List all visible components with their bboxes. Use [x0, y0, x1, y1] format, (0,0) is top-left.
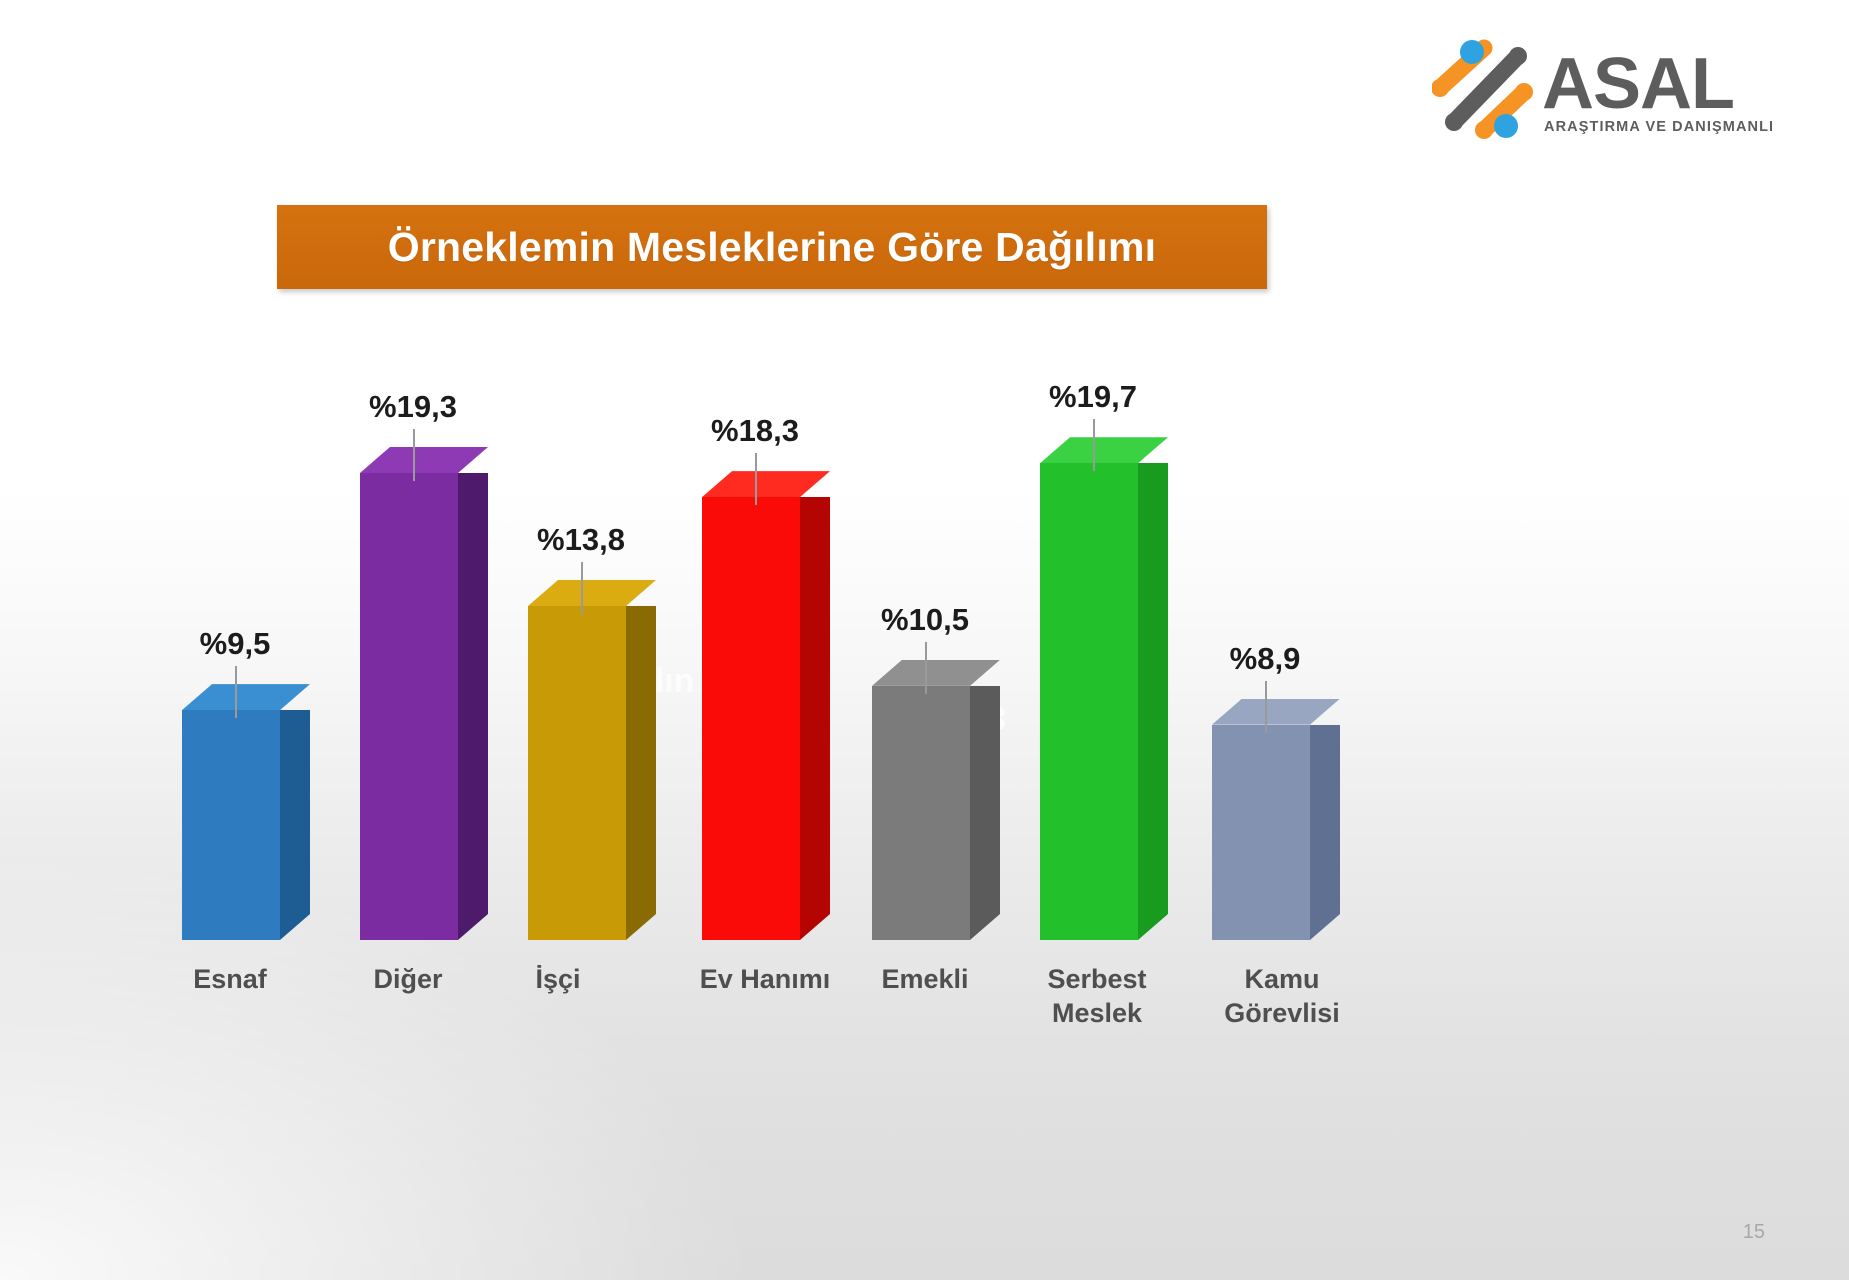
bar-top-face: [528, 580, 656, 606]
bar-front-face: [360, 473, 458, 940]
value-label: %19,7: [1019, 379, 1167, 415]
value-label: %19,3: [339, 389, 487, 425]
bar-side-face: [458, 473, 488, 940]
bar-top-face: [702, 471, 830, 497]
value-leader-line: [1265, 681, 1267, 733]
bar-diğer[interactable]: [360, 447, 488, 940]
value-leader-line: [1093, 419, 1095, 471]
category-label-i̇şçi: İşçi: [498, 962, 618, 996]
value-leader-line: [581, 562, 583, 614]
bar-side-face: [800, 497, 830, 940]
bar-side-face: [1310, 725, 1340, 940]
bar-i̇şçi[interactable]: [528, 580, 656, 940]
value-label: %18,3: [681, 413, 829, 449]
bar-top-face: [1040, 437, 1168, 463]
bar-side-face: [626, 606, 656, 940]
bar-top-face: [182, 684, 310, 710]
bar-front-face: [702, 497, 800, 940]
bar-front-face: [872, 686, 970, 940]
bar-ev-hanımı[interactable]: [702, 471, 830, 940]
value-label: %8,9: [1191, 641, 1339, 677]
bar-esnaf[interactable]: [182, 684, 310, 940]
bar-front-face: [1212, 725, 1310, 940]
bar-side-face: [970, 686, 1000, 940]
value-label: %9,5: [161, 626, 309, 662]
bar-front-face: [182, 710, 280, 940]
value-leader-line: [925, 642, 927, 694]
category-label-serbest-meslek: Serbest Meslek: [1012, 962, 1182, 1030]
bar-chart: Kadın %48,3 %9,5%19,3%13,8%18,3%10,5%19,…: [0, 0, 1849, 1280]
value-leader-line: [235, 666, 237, 718]
page-number: 15: [1743, 1221, 1765, 1244]
bar-serbest-meslek[interactable]: [1040, 437, 1168, 940]
bar-top-face: [1212, 699, 1340, 725]
category-label-emekli: Emekli: [840, 962, 1010, 996]
bar-kamu-görevlisi[interactable]: [1212, 699, 1340, 940]
bar-side-face: [280, 710, 310, 940]
category-label-kamu-görevlisi: Kamu Görevlisi: [1182, 962, 1382, 1030]
bar-front-face: [528, 606, 626, 940]
bar-top-face: [360, 447, 488, 473]
value-label: %13,8: [507, 522, 655, 558]
category-label-diğer: Diğer: [328, 962, 488, 996]
value-leader-line: [413, 429, 415, 481]
bar-emekli[interactable]: [872, 660, 1000, 940]
value-label: %10,5: [851, 602, 999, 638]
value-leader-line: [755, 453, 757, 505]
plot-area: %9,5%19,3%13,8%18,3%10,5%19,7%8,9EsnafDi…: [150, 380, 1710, 960]
bar-side-face: [1138, 463, 1168, 940]
bar-front-face: [1040, 463, 1138, 940]
bar-top-face: [872, 660, 1000, 686]
category-label-esnaf: Esnaf: [150, 962, 310, 996]
